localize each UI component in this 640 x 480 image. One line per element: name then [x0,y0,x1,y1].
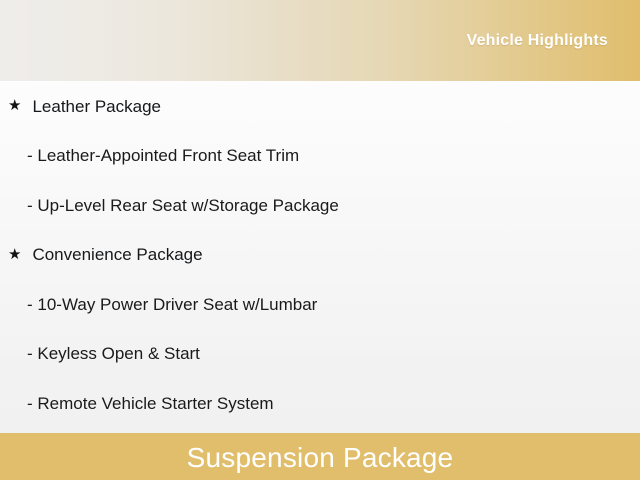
page-header: Vehicle Highlights [0,0,640,81]
package-feature-label: - Keyless Open & Start [27,344,200,364]
package-feature-label: - Leather-Appointed Front Seat Trim [27,146,299,166]
package-group-label: Leather Package [32,97,161,117]
list-item: - Remote Vehicle Starter System [0,379,640,429]
list-item: - Keyless Open & Start [0,330,640,380]
list-item: - Leather-Appointed Front Seat Trim [0,132,640,182]
next-section-title: Suspension Package [187,444,454,472]
star-icon: ★ [8,247,21,262]
page-title: Vehicle Highlights [467,32,640,50]
list-item: ★ Convenience Package [0,231,640,281]
package-feature-label: - Remote Vehicle Starter System [27,394,274,414]
list-item: ★ Leather Package [0,82,640,132]
next-section-banner: Suspension Package [0,433,640,480]
package-group-label: Convenience Package [32,245,202,265]
star-icon: ★ [8,98,21,113]
list-item: - Up-Level Rear Seat w/Storage Package [0,181,640,231]
package-feature-label: - 10-Way Power Driver Seat w/Lumbar [27,295,317,315]
package-feature-label: - Up-Level Rear Seat w/Storage Package [27,196,339,216]
list-item: - 10-Way Power Driver Seat w/Lumbar [0,280,640,330]
vehicle-highlights-page: Vehicle Highlights ★ Leather Package - L… [0,0,640,480]
highlights-list: ★ Leather Package - Leather-Appointed Fr… [0,81,640,433]
